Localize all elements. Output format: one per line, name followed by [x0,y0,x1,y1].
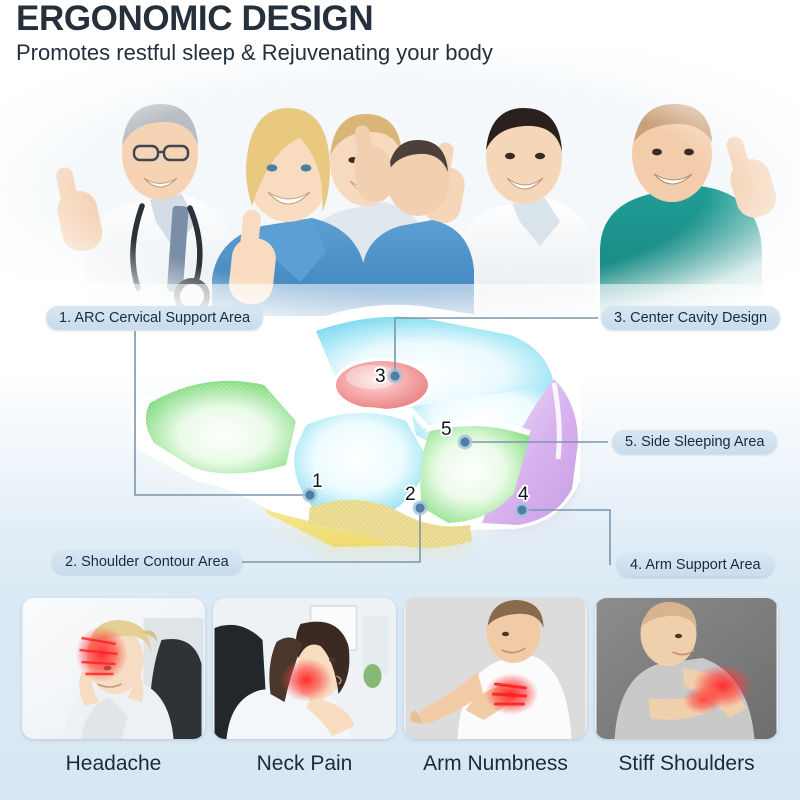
callout-label-4: 4. Arm Support Area [617,553,774,577]
page-title: ERGONOMIC DESIGN [16,0,493,38]
callout-label-5: 5. Side Sleeping Area [612,430,777,454]
symptom-cell-arm-numbness: Arm Numbness [404,598,587,788]
symptom-photo-neck-pain [213,598,396,739]
callout-label-3: 3. Center Cavity Design [601,306,780,330]
symptom-cell-stiff-shoulders: Stiff Shoulders [595,598,778,788]
callout-label-1: 1. ARC Cervical Support Area [46,306,263,330]
marker-number-3: 3 [375,366,386,388]
marker-number-1: 1 [312,471,323,493]
page-subtitle: Promotes restful sleep & Rejuvenating yo… [16,40,493,66]
infographic-page: ERGONOMIC DESIGN Promotes restful sleep … [0,0,800,800]
symptom-photo-arm-numbness [404,598,587,739]
symptom-caption-headache: Headache [66,752,162,776]
symptom-caption-neck-pain: Neck Pain [257,752,353,776]
symptom-caption-stiff-shoulders: Stiff Shoulders [618,752,754,776]
header: ERGONOMIC DESIGN Promotes restful sleep … [16,0,493,66]
symptom-photo-headache [22,598,205,739]
symptom-photo-stiff-shoulders [595,598,778,739]
callout-label-2: 2. Shoulder Contour Area [52,550,242,574]
symptom-cell-neck-pain: Neck Pain [213,598,396,788]
symptom-row: Headache [22,598,778,788]
marker-number-2: 2 [405,484,416,506]
marker-number-5: 5 [441,419,452,441]
marker-number-4: 4 [518,484,529,506]
symptom-cell-headache: Headache [22,598,205,788]
symptom-caption-arm-numbness: Arm Numbness [423,752,568,776]
